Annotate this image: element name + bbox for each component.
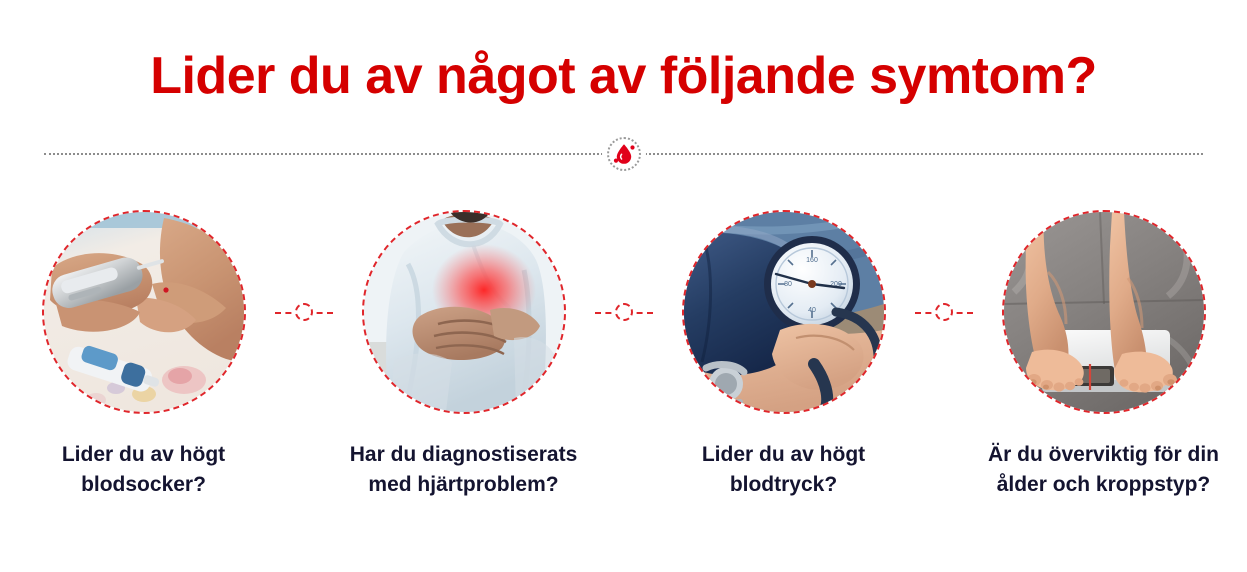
symptom-card-heart-problems[interactable]: Har du diagnostiserats med hjärtproblem? [333, 210, 595, 501]
blood-drop-icon [611, 141, 637, 167]
symptom-card-high-blood-pressure[interactable]: 160 200 40 80 [653, 210, 915, 501]
connector-node [935, 303, 953, 321]
page-title: Lider du av något av följande symtom? [0, 48, 1247, 105]
svg-text:80: 80 [784, 281, 792, 288]
symptom-card-overweight[interactable]: Är du överviktig för din ålder och kropp… [973, 210, 1235, 501]
svg-text:40: 40 [808, 307, 816, 314]
blood-drop-badge [602, 132, 646, 176]
symptom-caption: Lider du av högt blodtryck? [664, 440, 904, 501]
symptom-checklist-page: Lider du av något av följande symtom? [0, 0, 1247, 572]
symptom-image-wrap [362, 210, 566, 414]
connector-2 [595, 210, 653, 414]
symptom-card-high-blood-sugar[interactable]: Lider du av högt blodsocker? [13, 210, 275, 501]
symptom-image-wrap [42, 210, 246, 414]
symptom-caption: Lider du av högt blodsocker? [24, 440, 264, 501]
bathroom-scale-feet-photo [1004, 212, 1204, 412]
divider [44, 132, 1203, 176]
glucose-meter-finger-prick-photo [44, 212, 244, 412]
blood-pressure-cuff-photo: 160 200 40 80 [684, 212, 884, 412]
svg-text:160: 160 [806, 257, 818, 264]
connector-3 [915, 210, 973, 414]
symptom-cards-row: Lider du av högt blodsocker? [0, 210, 1247, 550]
symptom-image-wrap: 160 200 40 80 [682, 210, 886, 414]
connector-node [615, 303, 633, 321]
chest-pain-photo [364, 212, 564, 412]
symptom-caption: Är du överviktig för din ålder och kropp… [984, 440, 1224, 501]
connector-node [295, 303, 313, 321]
connector-1 [275, 210, 333, 414]
symptom-image-wrap [1002, 210, 1206, 414]
symptom-caption: Har du diagnostiserats med hjärtproblem? [344, 440, 584, 501]
